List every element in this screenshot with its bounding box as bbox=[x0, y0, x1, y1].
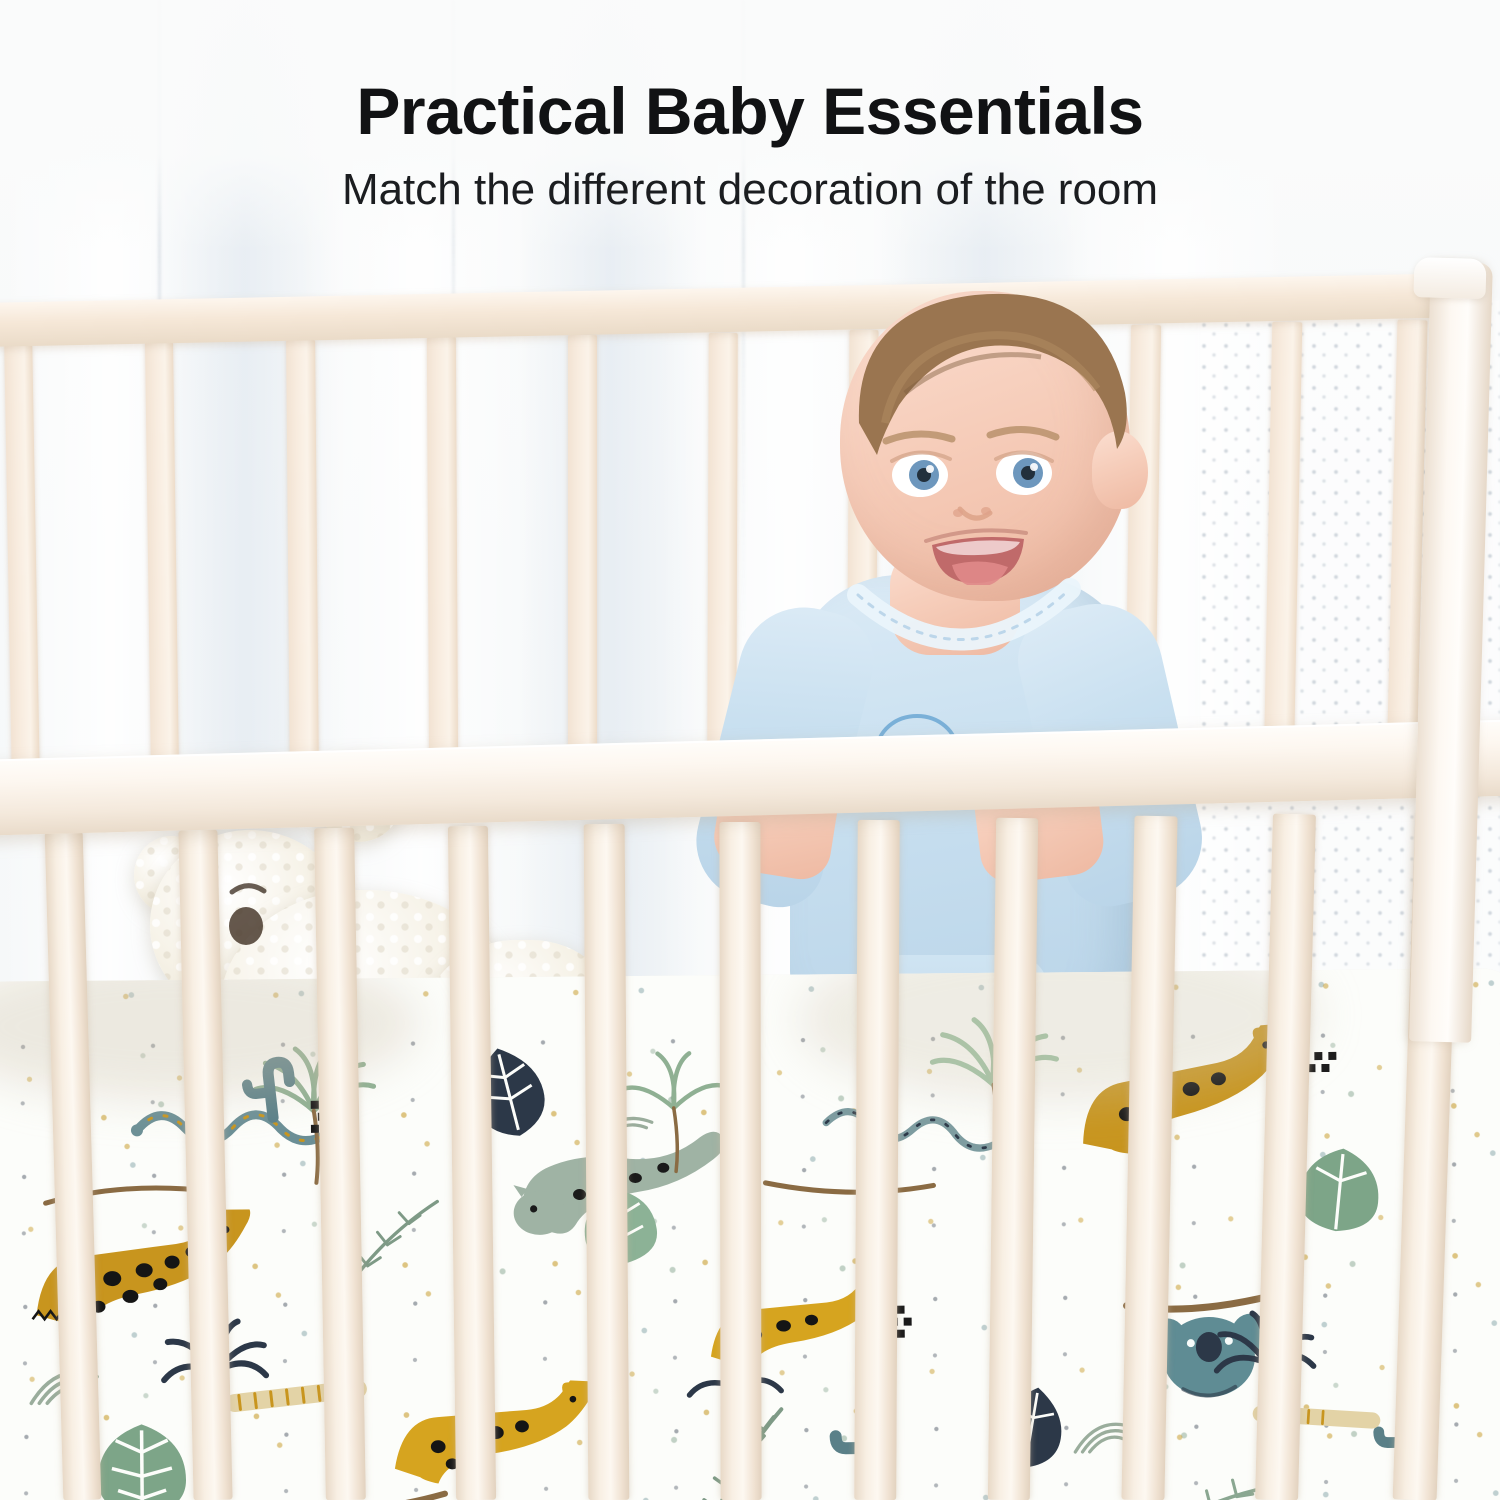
product-image-canvas: Practical Baby Essentials Match the diff… bbox=[0, 0, 1500, 1500]
crib-front-slat bbox=[854, 820, 900, 1500]
crib-front-slat bbox=[448, 826, 496, 1500]
crib-front-slat bbox=[1393, 811, 1460, 1500]
crib-front-slat bbox=[45, 832, 102, 1500]
crib-front-slat bbox=[988, 818, 1038, 1500]
crib-front-slat bbox=[584, 824, 630, 1500]
header-backdrop bbox=[0, 0, 1500, 250]
crib-front-slat bbox=[719, 822, 761, 1500]
crib-front-slat bbox=[1255, 814, 1316, 1500]
crib-front-slat bbox=[314, 828, 366, 1500]
crib-front-slat bbox=[1121, 816, 1177, 1500]
crib-front-slat bbox=[178, 830, 232, 1500]
